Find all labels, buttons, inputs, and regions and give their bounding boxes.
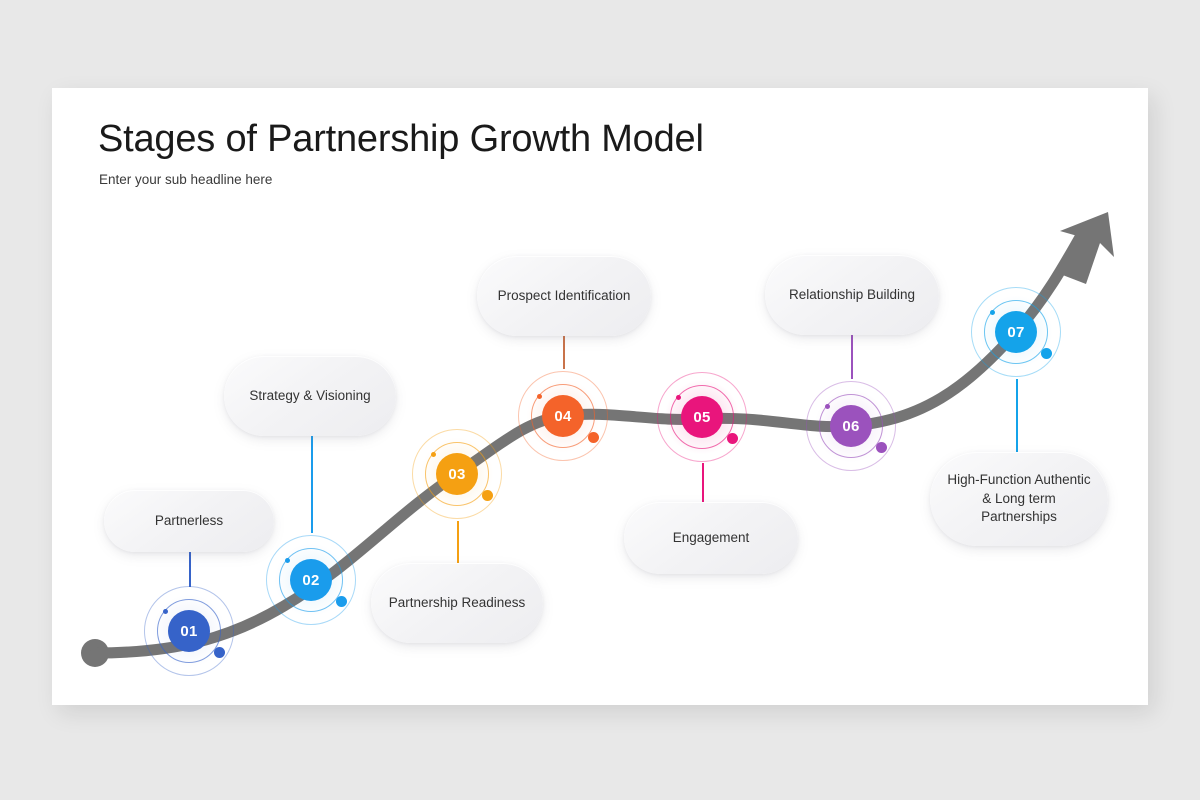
stage-label-text: Strategy & Visioning [249,387,370,406]
stage-number: 05 [693,409,710,426]
node-orbit-dot-large [482,490,493,501]
node-core[interactable]: 01 [168,610,210,652]
node-orbit-dot-small [537,394,542,399]
connector-line-03 [457,521,459,563]
connector-line-04 [563,336,565,369]
stage-number: 02 [302,572,319,589]
stage-label-02[interactable]: Strategy & Visioning [224,356,396,436]
stage-label-text: Relationship Building [789,286,915,305]
node-orbit-dot-large [1041,348,1052,359]
node-orbit-dot-small [676,395,681,400]
node-core[interactable]: 04 [542,395,584,437]
connector-line-01 [189,552,191,587]
node-orbit-dot-small [431,452,436,457]
stage-label-text: High-Function Authentic & Long term Part… [944,471,1094,527]
connector-line-07 [1016,379,1018,452]
node-orbit-dot-small [825,404,830,409]
stage-number: 07 [1007,324,1024,341]
stage-node-05[interactable]: 05 [654,369,750,465]
node-core[interactable]: 02 [290,559,332,601]
node-orbit-dot-large [588,432,599,443]
stage-number: 06 [842,418,859,435]
stage-node-01[interactable]: 01 [141,583,237,679]
stage-number: 03 [448,466,465,483]
connector-line-06 [851,335,853,379]
connector-line-02 [311,436,313,533]
node-core[interactable]: 07 [995,311,1037,353]
node-orbit-dot-small [163,609,168,614]
node-orbit-dot-large [727,433,738,444]
stage-label-03[interactable]: Partnership Readiness [371,563,543,643]
node-orbit-dot-large [876,442,887,453]
stage-number: 04 [554,408,571,425]
stage-label-text: Prospect Identification [498,287,631,306]
node-orbit-dot-large [214,647,225,658]
node-core[interactable]: 03 [436,453,478,495]
stage-label-06[interactable]: Relationship Building [765,255,939,335]
stage-node-07[interactable]: 07 [968,284,1064,380]
growth-curve-diagram: Partnerless Strategy & Visioning Partner… [52,88,1148,705]
node-core[interactable]: 06 [830,405,872,447]
stage-node-02[interactable]: 02 [263,532,359,628]
stage-node-06[interactable]: 06 [803,378,899,474]
stage-label-05[interactable]: Engagement [624,502,798,574]
stage-node-04[interactable]: 04 [515,368,611,464]
stage-label-text: Partnerless [155,512,223,531]
stage-label-text: Partnership Readiness [389,594,526,613]
stage-number: 01 [180,623,197,640]
stage-label-04[interactable]: Prospect Identification [477,256,651,336]
stage-label-07[interactable]: High-Function Authentic & Long term Part… [930,452,1108,546]
stage-label-01[interactable]: Partnerless [104,490,274,552]
node-orbit-dot-large [336,596,347,607]
slide-card: Stages of Partnership Growth Model Enter… [52,88,1148,705]
node-core[interactable]: 05 [681,396,723,438]
node-orbit-dot-small [990,310,995,315]
connector-line-05 [702,463,704,502]
stage-label-text: Engagement [673,529,750,548]
node-orbit-dot-small [285,558,290,563]
stage-node-03[interactable]: 03 [409,426,505,522]
